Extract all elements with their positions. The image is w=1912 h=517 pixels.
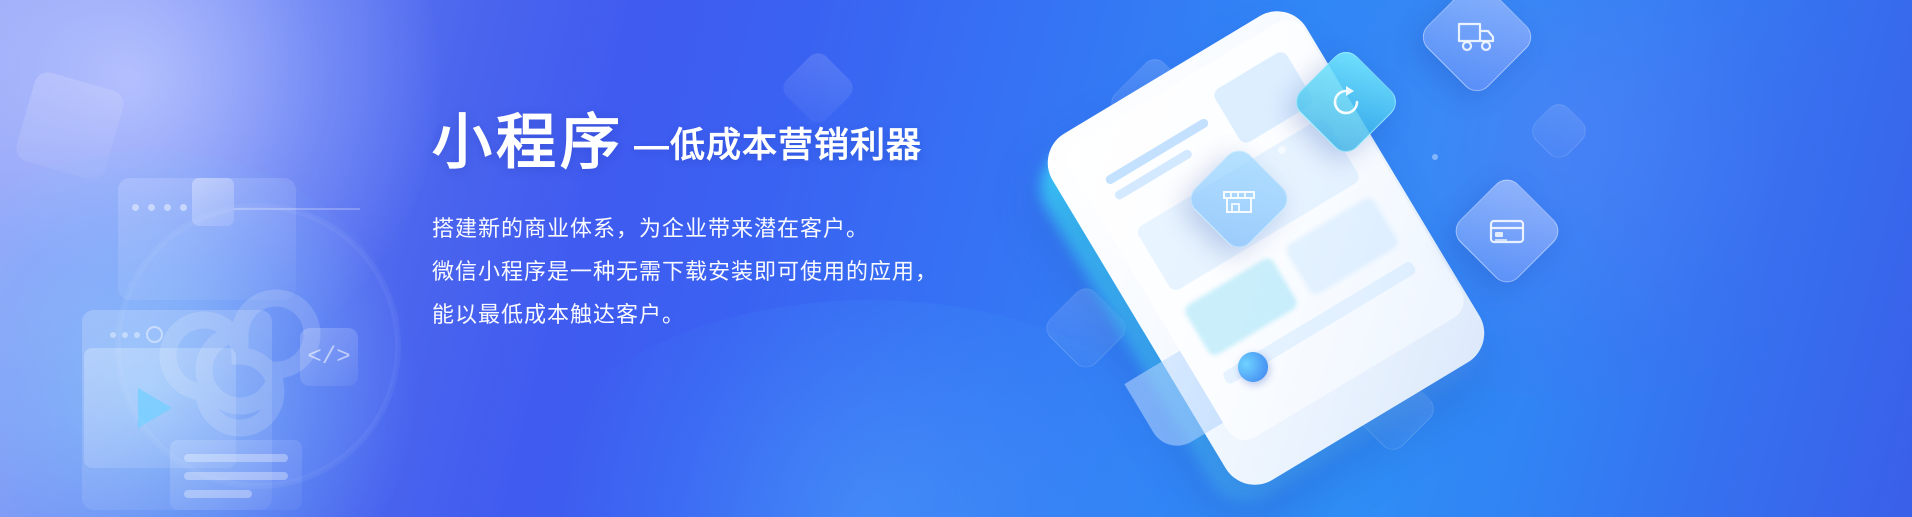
body-line: 搭建新的商业体系，为企业带来潜在客户。 [432, 207, 992, 250]
headline-main: 小程序 [432, 112, 624, 173]
decorative-tile-left [13, 69, 127, 183]
hero-body-copy: 搭建新的商业体系，为企业带来潜在客户。 微信小程序是一种无需下载安装即可使用的应… [432, 207, 992, 336]
hero-copy: 小程序 —低成本营销利器 搭建新的商业体系，为企业带来潜在客户。 微信小程序是一… [432, 112, 992, 336]
decorative-connector-line [234, 208, 360, 210]
decorative-window-dots [132, 204, 187, 211]
play-icon [138, 388, 172, 428]
decorative-floating-tile [1526, 98, 1591, 163]
credit-card-tile [1449, 173, 1565, 289]
body-line: 能以最低成本触达客户。 [432, 293, 992, 336]
decorative-dot [1278, 146, 1286, 154]
decorative-media-toolbar [110, 326, 163, 343]
decorative-dot [1180, 112, 1185, 117]
background-glow-top-left [0, 0, 440, 390]
background-glow-left [0, 150, 420, 517]
body-line: 微信小程序是一种无需下载安装即可使用的应用， [432, 250, 992, 293]
headline-subtitle: —低成本营销利器 [634, 117, 922, 173]
wechat-miniprogram-logo [108, 196, 408, 496]
decorative-window-card [118, 178, 296, 300]
delivery-truck-icon [1454, 14, 1500, 60]
decorative-media-screen [84, 348, 236, 468]
gear-icon [146, 326, 163, 343]
delivery-truck-tile [1416, 0, 1538, 98]
decorative-dot [1432, 154, 1438, 160]
decorative-list-card [170, 440, 302, 510]
phone-illustration [1030, 0, 1590, 517]
storefront-icon [1219, 179, 1259, 219]
credit-card-icon [1485, 209, 1529, 253]
hero-headline: 小程序 —低成本营销利器 [432, 112, 992, 173]
decorative-square [192, 178, 234, 226]
miniprogram-hero-banner: </> 小程序 —低成本营销利器 搭建新的商业体系，为企业带来潜在客户。 微信小… [0, 0, 1912, 517]
code-brackets-icon: </> [300, 328, 358, 386]
refresh-loop-icon [1326, 82, 1366, 122]
